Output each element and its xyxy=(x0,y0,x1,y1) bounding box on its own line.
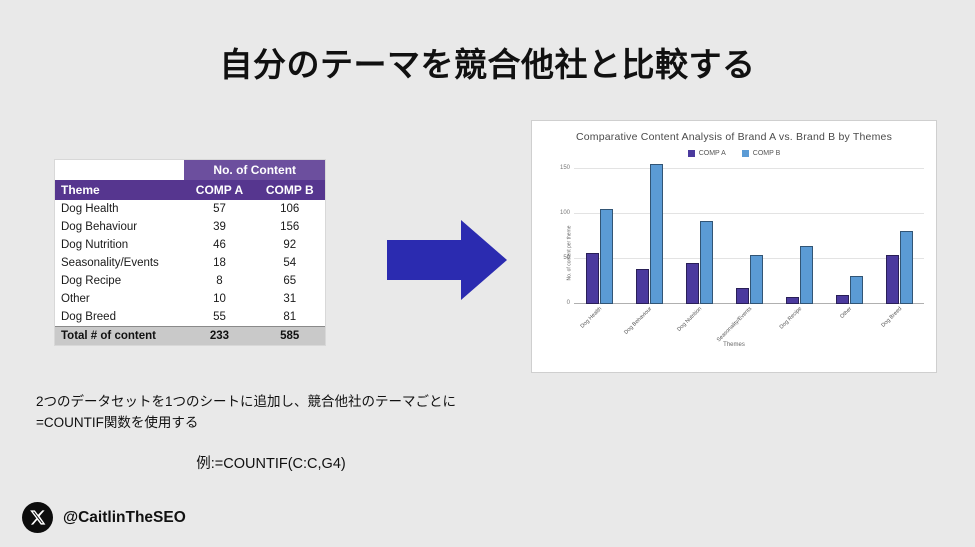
x-label-slot: Dog Nutrition xyxy=(684,304,714,340)
x-axis-tick: Dog Nutrition xyxy=(676,306,703,333)
table-row: Dog Recipe 8 65 xyxy=(55,272,325,290)
x-axis-tick: Seasonality/Events xyxy=(716,306,753,343)
x-axis-title: Themes xyxy=(532,342,936,348)
table-header-row: Theme COMP A COMP B xyxy=(55,180,325,200)
x-axis-tick: Dog Health xyxy=(580,306,604,330)
x-label-slot: Dog Behaviour xyxy=(634,304,664,340)
bar-comp-a xyxy=(736,288,749,304)
right-arrow-icon xyxy=(383,218,511,303)
cell-theme: Other xyxy=(55,290,184,308)
bar-group xyxy=(836,169,863,304)
chart-title: Comparative Content Analysis of Brand A … xyxy=(532,121,936,143)
content-table: No. of Content Theme COMP A COMP B Dog H… xyxy=(55,160,325,345)
cell-comp-a: 55 xyxy=(184,308,254,327)
cell-comp-b: 65 xyxy=(254,272,325,290)
chart-bars xyxy=(574,169,924,304)
table-blank-corner xyxy=(55,160,184,180)
cell-comp-b: 92 xyxy=(254,236,325,254)
y-axis-tick: 0 xyxy=(567,300,570,306)
x-label-slot: Seasonality/Events xyxy=(734,304,764,340)
x-label-slot: Other xyxy=(834,304,864,340)
bar-chart-panel: Comparative Content Analysis of Brand A … xyxy=(531,120,937,373)
cell-comp-b: 31 xyxy=(254,290,325,308)
cell-comp-b: 156 xyxy=(254,218,325,236)
cell-theme: Seasonality/Events xyxy=(55,254,184,272)
table-row: Dog Breed 55 81 xyxy=(55,308,325,327)
cell-theme: Dog Nutrition xyxy=(55,236,184,254)
cell-theme: Dog Recipe xyxy=(55,272,184,290)
x-axis-tick: Other xyxy=(839,306,853,320)
bar-group xyxy=(686,169,713,304)
cell-comp-b: 54 xyxy=(254,254,325,272)
social-handle: @CaitlinTheSEO xyxy=(63,509,186,527)
y-axis-title: No. of content per theme xyxy=(567,225,573,280)
cell-total-label: Total # of content xyxy=(55,327,184,346)
bar-comp-b xyxy=(900,231,913,304)
cell-theme: Dog Breed xyxy=(55,308,184,327)
instruction-line-1: 2つのデータセットを1つのシートに追加し、競合他社のテーマごとに xyxy=(36,392,506,413)
table-row: Dog Behaviour 39 156 xyxy=(55,218,325,236)
x-axis-labels: Dog HealthDog BehaviourDog NutritionSeas… xyxy=(574,304,924,340)
bar-group xyxy=(886,169,913,304)
table-row: Seasonality/Events 18 54 xyxy=(55,254,325,272)
cell-theme: Dog Health xyxy=(55,200,184,218)
bar-comp-b xyxy=(800,246,813,305)
cell-comp-b: 106 xyxy=(254,200,325,218)
bar-group xyxy=(636,169,663,304)
instruction-text: 2つのデータセットを1つのシートに追加し、競合他社のテーマごとに =COUNTI… xyxy=(36,392,506,434)
table-row: Dog Nutrition 46 92 xyxy=(55,236,325,254)
cell-comp-a: 18 xyxy=(184,254,254,272)
x-label-slot: Dog Health xyxy=(584,304,614,340)
bar-comp-b xyxy=(700,221,713,304)
chart-plot-area: No. of content per theme 150100500 Dog H… xyxy=(540,165,928,340)
bar-group xyxy=(586,169,613,304)
bar-comp-a xyxy=(686,263,699,304)
y-axis-tick: 150 xyxy=(560,165,570,171)
table-body: Dog Health 57 106 Dog Behaviour 39 156 D… xyxy=(55,200,325,345)
x-axis-tick: Dog Recipe xyxy=(779,306,804,331)
bar-comp-a xyxy=(636,269,649,304)
table-group-header-row: No. of Content xyxy=(55,160,325,180)
legend-item-comp-b: COMP B xyxy=(742,150,781,157)
instruction-line-2: =COUNTIF関数を使用する xyxy=(36,413,506,434)
bar-comp-b xyxy=(650,164,663,304)
cell-comp-a: 10 xyxy=(184,290,254,308)
formula-example: 例:=COUNTIF(C:C,G4) xyxy=(36,452,506,473)
cell-total-comp-a: 233 xyxy=(184,327,254,346)
cell-comp-a: 57 xyxy=(184,200,254,218)
bar-comp-a xyxy=(786,297,799,304)
x-axis-tick: Dog Behaviour xyxy=(623,306,653,336)
legend-swatch-comp-b xyxy=(742,150,749,157)
legend-label-comp-b: COMP B xyxy=(753,150,781,157)
column-header-theme: Theme xyxy=(55,180,184,200)
bar-comp-b xyxy=(600,209,613,304)
chart-legend: COMP A COMP B xyxy=(532,150,936,157)
x-label-slot: Dog Breed xyxy=(884,304,914,340)
bar-comp-a xyxy=(886,255,899,305)
y-axis-tick: 100 xyxy=(560,210,570,216)
y-axis-tick: 50 xyxy=(563,255,570,261)
legend-label-comp-a: COMP A xyxy=(699,150,726,157)
cell-theme: Dog Behaviour xyxy=(55,218,184,236)
table-group-header: No. of Content xyxy=(184,160,325,180)
bar-comp-b xyxy=(850,276,863,304)
column-header-comp-a: COMP A xyxy=(184,180,254,200)
table-row: Dog Health 57 106 xyxy=(55,200,325,218)
legend-item-comp-a: COMP A xyxy=(688,150,726,157)
bar-comp-b xyxy=(750,255,763,304)
bar-comp-a xyxy=(836,295,849,304)
x-axis-tick: Dog Breed xyxy=(880,306,903,329)
page-title: 自分のテーマを競合他社と比較する xyxy=(0,38,975,86)
cell-total-comp-b: 585 xyxy=(254,327,325,346)
footer-credit: @CaitlinTheSEO xyxy=(22,502,186,533)
chart-gridlines: 150100500 xyxy=(574,169,924,304)
table-total-row: Total # of content 233 585 xyxy=(55,327,325,346)
cell-comp-b: 81 xyxy=(254,308,325,327)
x-label-slot: Dog Recipe xyxy=(784,304,814,340)
bar-comp-a xyxy=(586,253,599,304)
slide-canvas: 自分のテーマを競合他社と比較する No. of Content Theme CO… xyxy=(0,0,975,547)
cell-comp-a: 39 xyxy=(184,218,254,236)
cell-comp-a: 8 xyxy=(184,272,254,290)
bar-group xyxy=(786,169,813,304)
x-logo-icon xyxy=(22,502,53,533)
legend-swatch-comp-a xyxy=(688,150,695,157)
cell-comp-a: 46 xyxy=(184,236,254,254)
table-row: Other 10 31 xyxy=(55,290,325,308)
bar-group xyxy=(736,169,763,304)
column-header-comp-b: COMP B xyxy=(254,180,325,200)
